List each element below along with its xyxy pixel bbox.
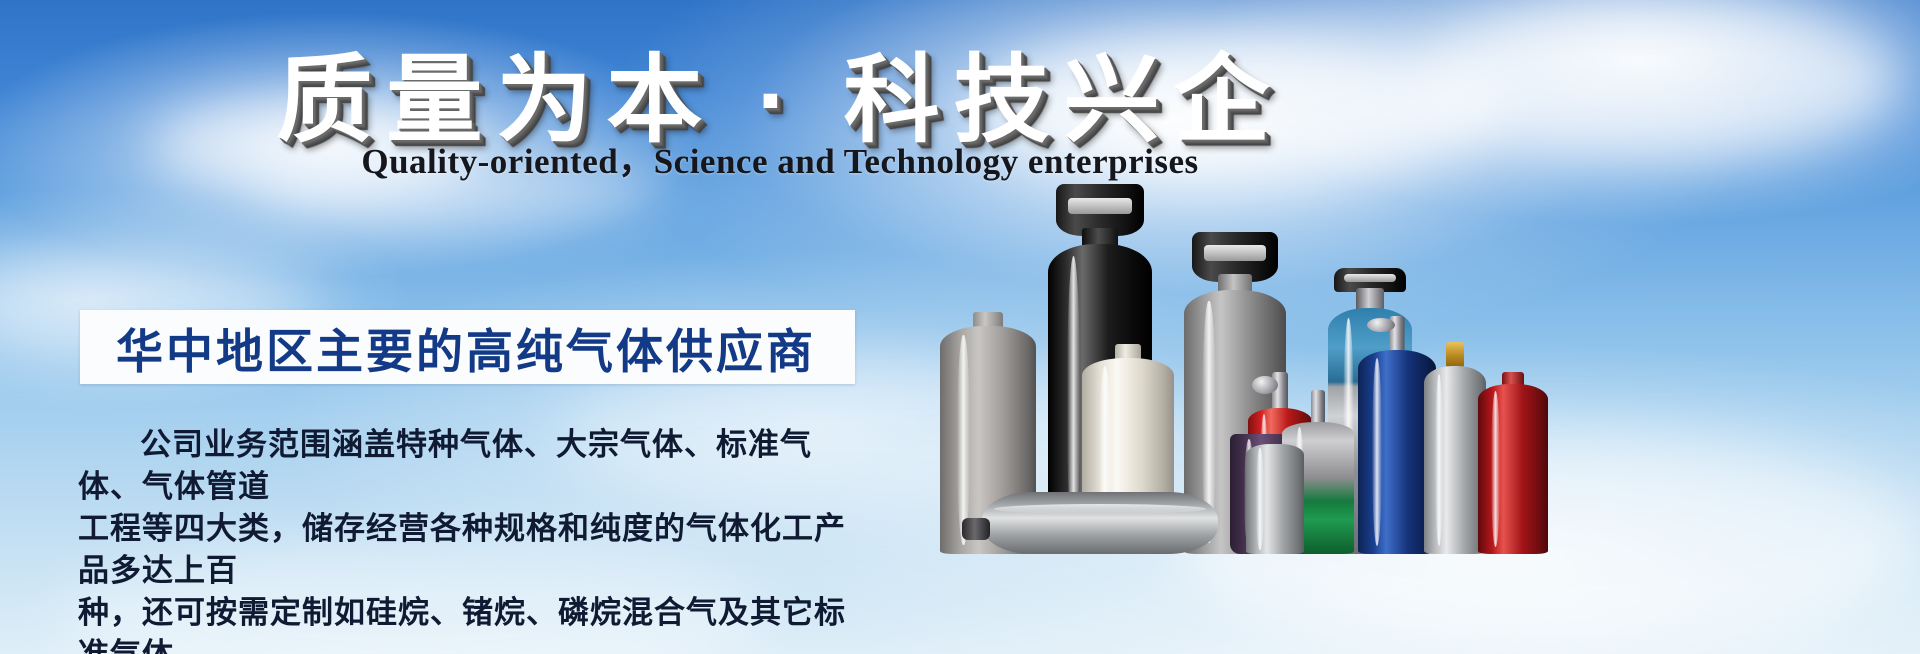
paragraph-line: 公司业务范围涵盖特种气体、大宗气体、标准气体、气体管道 (78, 424, 868, 508)
cylinder-aluminium-silver (1424, 339, 1486, 554)
slogan-text: 华中地区主要的高纯气体供应商 (80, 313, 816, 382)
cylinder-red-large (1478, 379, 1548, 554)
description-paragraph: 公司业务范围涵盖特种气体、大宗气体、标准气体、气体管道 工程等四大类，储存经营各… (78, 424, 868, 654)
paragraph-line: 种，还可按需定制如硅烷、锗烷、磷烷混合气及其它标准气体。 (78, 592, 868, 654)
page-subtitle: Quality-oriented，Science and Technology … (0, 133, 1560, 184)
cylinder-aluminium-front (1246, 444, 1304, 554)
cylinder-lying-silver (982, 492, 1218, 554)
cylinder-lying-valve (962, 518, 990, 540)
hero-banner: 质量为本 · 科技兴企 Quality-oriented，Science and… (0, 0, 1920, 654)
paragraph-line: 工程等四大类，储存经营各种规格和纯度的气体化工产品多达上百 (78, 508, 868, 592)
slogan-highlight-box: 华中地区主要的高纯气体供应商 (80, 310, 855, 384)
gas-cylinder-group-photo (930, 150, 1540, 554)
